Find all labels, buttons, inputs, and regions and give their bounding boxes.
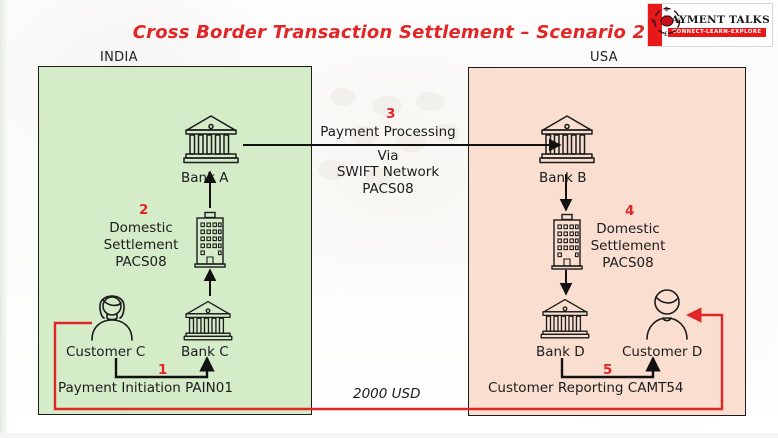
- diagram-canvas: Cross Border Transaction Settlement – Sc…: [0, 0, 778, 438]
- step-caption-1: Payment Initiation PAIN01: [58, 380, 233, 396]
- step-caption-3-line-3: SWIFT Network: [291, 164, 485, 181]
- step-caption-2-line-1: Domestic: [95, 220, 187, 237]
- step-caption-4-line-2: Settlement: [582, 238, 674, 255]
- step-number-1: 1: [158, 362, 167, 378]
- step-number-5: 5: [603, 362, 612, 378]
- step-number-4: 4: [625, 203, 634, 219]
- step-caption-4-line-3: PACS08: [582, 255, 674, 272]
- connectors-layer: [0, 0, 778, 438]
- step-caption-3-line-4: PACS08: [291, 181, 485, 198]
- step-number-2: 2: [139, 202, 148, 218]
- step-caption-5: Customer Reporting CAMT54: [488, 380, 684, 396]
- step-number-3: 3: [386, 106, 395, 122]
- step-caption-4-line-1: Domestic: [582, 221, 674, 238]
- funds-amount-label: 2000 USD: [353, 386, 421, 402]
- step-caption-3-line-2: Via: [291, 148, 485, 165]
- step-caption-2-line-2: Settlement: [95, 237, 187, 254]
- step-caption-2-line-3: PACS08: [95, 254, 187, 271]
- step-caption-3-line-1: Payment Processing: [291, 124, 485, 141]
